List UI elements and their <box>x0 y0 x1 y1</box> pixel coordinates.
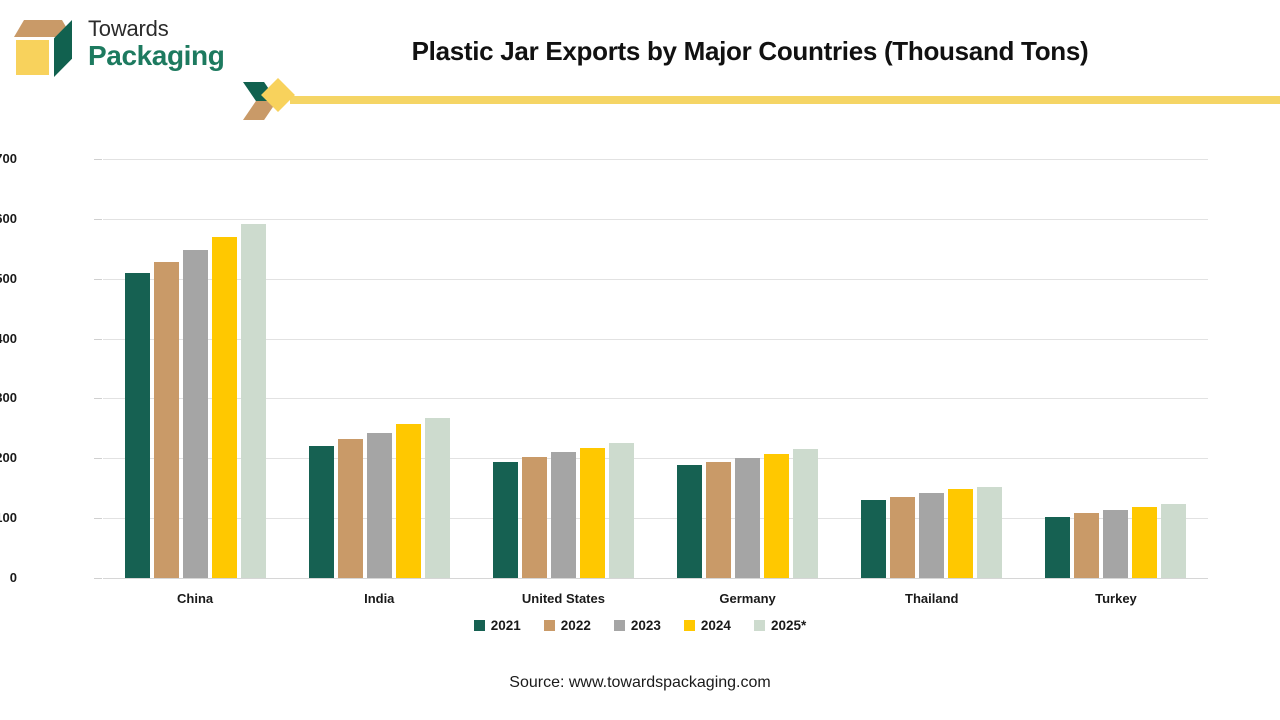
source-caption: Source: www.towardspackaging.com <box>0 674 1280 692</box>
bar[interactable] <box>1045 517 1070 578</box>
x-axis-category-label: Turkey <box>1024 591 1208 606</box>
legend-swatch <box>614 620 625 631</box>
legend-item[interactable]: 2023 <box>614 618 661 633</box>
y-axis-tick-mark <box>94 159 102 160</box>
y-axis-tick-mark <box>94 578 102 579</box>
legend-item[interactable]: 2022 <box>544 618 591 633</box>
bar[interactable] <box>212 237 237 578</box>
legend-swatch <box>474 620 485 631</box>
y-axis-tick-label: 0 <box>0 570 17 585</box>
bar[interactable] <box>948 489 973 578</box>
bar[interactable] <box>125 273 150 578</box>
chart-legend: 20212022202320242025* <box>0 618 1280 633</box>
bar[interactable] <box>764 454 789 578</box>
bar-group: Thailand <box>840 159 1024 578</box>
y-axis-tick-mark <box>94 339 102 340</box>
y-axis-tick-label: 100 <box>0 510 17 525</box>
bar-group: Germany <box>656 159 840 578</box>
bar[interactable] <box>919 493 944 578</box>
bar[interactable] <box>735 458 760 578</box>
bar[interactable] <box>609 443 634 578</box>
y-axis-tick-mark <box>94 279 102 280</box>
bar-group: India <box>287 159 471 578</box>
bar[interactable] <box>309 446 334 578</box>
bar[interactable] <box>1132 507 1157 578</box>
bar[interactable] <box>522 457 547 578</box>
legend-label: 2021 <box>491 618 521 633</box>
bar[interactable] <box>677 465 702 578</box>
x-axis-category-label: India <box>287 591 471 606</box>
legend-swatch <box>754 620 765 631</box>
bar[interactable] <box>183 250 208 578</box>
y-axis-tick-mark <box>94 398 102 399</box>
bar[interactable] <box>493 462 518 578</box>
bar[interactable] <box>1161 504 1186 578</box>
y-axis-tick-mark <box>94 518 102 519</box>
bar[interactable] <box>890 497 915 578</box>
x-axis-category-label: China <box>103 591 287 606</box>
bar[interactable] <box>338 439 363 578</box>
bar[interactable] <box>1074 513 1099 578</box>
bar-group: Turkey <box>1024 159 1208 578</box>
y-axis-tick-label: 400 <box>0 331 17 346</box>
legend-item[interactable]: 2021 <box>474 618 521 633</box>
legend-item[interactable]: 2024 <box>684 618 731 633</box>
bar-group: China <box>103 159 287 578</box>
bar[interactable] <box>396 424 421 578</box>
y-axis-tick-mark <box>94 458 102 459</box>
y-axis-tick-label: 700 <box>0 151 17 166</box>
y-axis-tick-label: 300 <box>0 390 17 405</box>
y-axis-tick-label: 200 <box>0 450 17 465</box>
legend-label: 2023 <box>631 618 661 633</box>
bar[interactable] <box>977 487 1002 578</box>
y-axis-tick-label: 600 <box>0 211 17 226</box>
y-axis-tick-label: 500 <box>0 271 17 286</box>
bar[interactable] <box>367 433 392 578</box>
bar-group: United States <box>471 159 655 578</box>
x-axis-category-label: Germany <box>656 591 840 606</box>
bar[interactable] <box>793 449 818 578</box>
bar[interactable] <box>580 448 605 578</box>
legend-label: 2025* <box>771 618 806 633</box>
x-axis-category-label: Thailand <box>840 591 1024 606</box>
legend-label: 2024 <box>701 618 731 633</box>
bar[interactable] <box>154 262 179 578</box>
bar[interactable] <box>706 462 731 578</box>
legend-swatch <box>544 620 555 631</box>
gridline <box>103 578 1208 579</box>
legend-item[interactable]: 2025* <box>754 618 806 633</box>
legend-label: 2022 <box>561 618 591 633</box>
x-axis-category-label: United States <box>471 591 655 606</box>
y-axis-tick-mark <box>94 219 102 220</box>
bar[interactable] <box>1103 510 1128 578</box>
chart-area: 0100200300400500600700 ChinaIndiaUnited … <box>0 0 1280 720</box>
bar[interactable] <box>425 418 450 578</box>
bar-groups: ChinaIndiaUnited StatesGermanyThailandTu… <box>103 159 1208 578</box>
bar[interactable] <box>861 500 886 578</box>
legend-swatch <box>684 620 695 631</box>
bar[interactable] <box>551 452 576 578</box>
bar[interactable] <box>241 224 266 578</box>
